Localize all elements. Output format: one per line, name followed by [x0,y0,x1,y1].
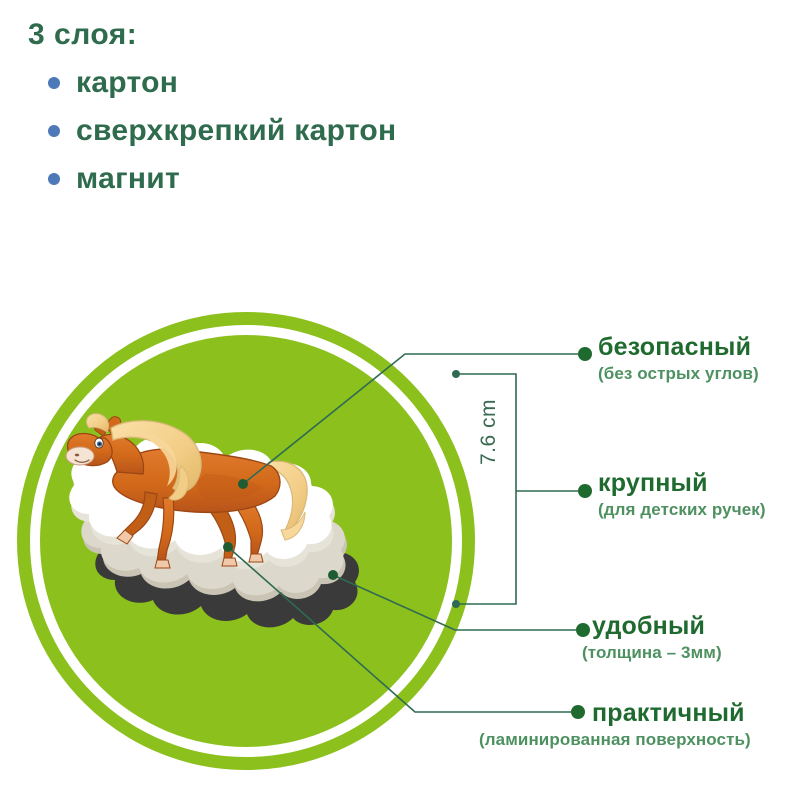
layer-label: картон [76,66,178,100]
horse-magnet-puzzle [55,410,395,640]
feature-subtitle: (толщина – 3мм) [582,643,722,663]
layer-label: магнит [76,162,180,196]
feature-title: практичный [592,700,751,726]
feature-big: крупный (для детских ручек) [598,470,766,521]
callout-dot-practical [571,705,585,719]
callout-dot-safe [578,347,592,361]
callout-dot-handy [576,623,590,637]
feature-subtitle: (без острых углов) [598,364,759,384]
puzzle-stack-illustration [55,410,395,640]
feature-title: безопасный [598,334,759,360]
list-item: картон [28,59,498,107]
feature-handy: удобный (толщина – 3мм) [592,613,722,664]
infographic-canvas: 3 слоя: картон сверхкрепкий картон магни… [0,0,800,800]
layers-title: 3 слоя: [28,18,498,51]
feature-title: крупный [598,470,766,496]
dimension-label: 7.6 cm [477,399,501,465]
list-item: магнит [28,155,498,203]
feature-subtitle: (для детских ручек) [598,500,766,520]
bullet-dot-icon [48,125,60,137]
layers-list: картон сверхкрепкий картон магнит [28,59,498,203]
feature-safe: безопасный (без острых углов) [598,334,759,385]
feature-subtitle: (ламинированная поверхность) [479,730,751,750]
bullet-dot-icon [48,173,60,185]
layers-block: 3 слоя: картон сверхкрепкий картон магни… [28,18,498,203]
list-item: сверхкрепкий картон [28,107,498,155]
layer-label: сверхкрепкий картон [76,114,396,148]
feature-title: удобный [592,613,722,639]
feature-practical: практичный (ламинированная поверхность) [592,700,751,751]
bullet-dot-icon [48,77,60,89]
callout-dot-big [578,484,592,498]
